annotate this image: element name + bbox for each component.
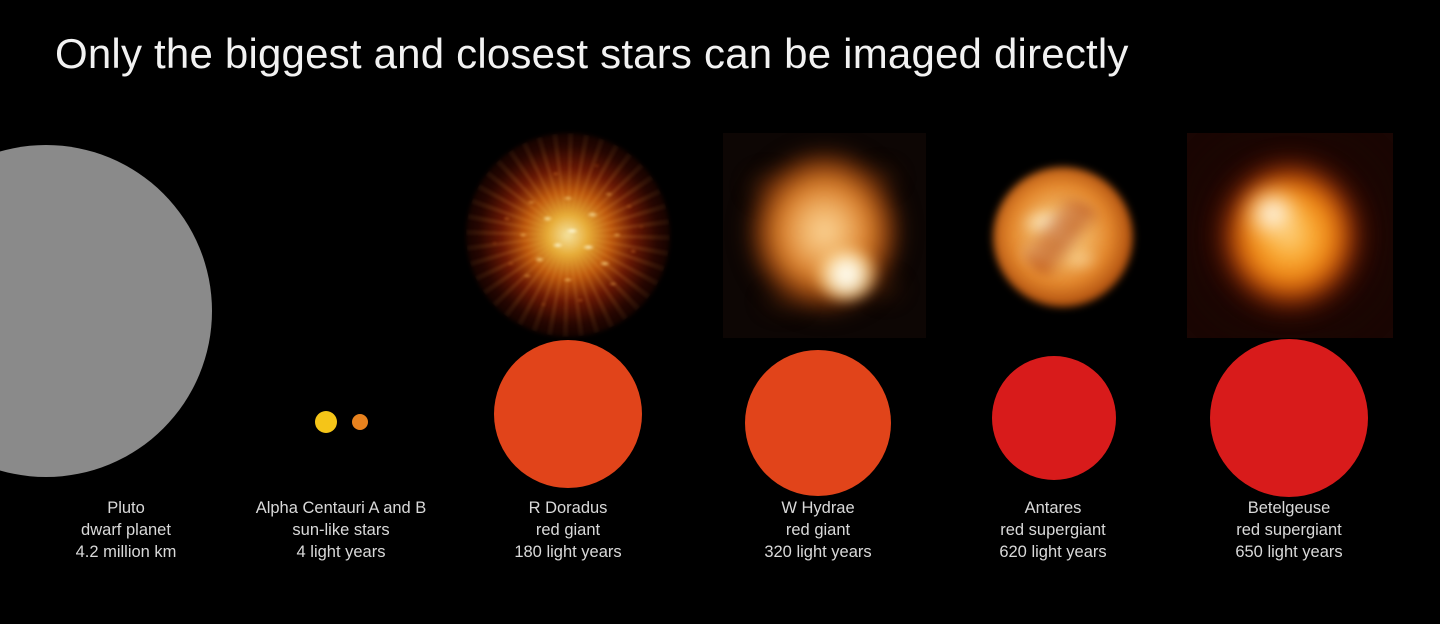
caption-name: R Doradus	[468, 497, 668, 519]
infographic-canvas: Only the biggest and closest stars can b…	[0, 0, 1440, 624]
pluto-size-disc	[0, 145, 212, 477]
betelgeuse-size-disc	[1210, 339, 1368, 497]
caption-distance: 620 light years	[953, 541, 1153, 563]
w-hydrae-telescope-image	[723, 133, 926, 338]
caption-name: W Hydrae	[718, 497, 918, 519]
r-doradus-size-disc	[494, 340, 642, 488]
caption-name: Alpha Centauri A and B	[241, 497, 441, 519]
r-doradus-telescope-image	[466, 133, 670, 337]
antares-dark-lane	[1018, 198, 1108, 279]
caption-name: Antares	[953, 497, 1153, 519]
betelgeuse-telescope-image	[1187, 133, 1393, 338]
caption-alpha-centauri: Alpha Centauri A and B sun-like stars 4 …	[241, 497, 441, 563]
caption-antares: Antares red supergiant 620 light years	[953, 497, 1153, 563]
caption-type: red supergiant	[1189, 519, 1389, 541]
alpha-centauri-a-disc	[315, 411, 337, 433]
caption-type: red giant	[468, 519, 668, 541]
caption-pluto: Pluto dwarf planet 4.2 million km	[26, 497, 226, 563]
page-title: Only the biggest and closest stars can b…	[55, 28, 1129, 80]
betelgeuse-hotspot	[1241, 186, 1303, 243]
caption-type: sun-like stars	[241, 519, 441, 541]
antares-telescope-image	[993, 167, 1133, 307]
antares-size-disc	[992, 356, 1116, 480]
caption-betelgeuse: Betelgeuse red supergiant 650 light year…	[1189, 497, 1389, 563]
caption-distance: 180 light years	[468, 541, 668, 563]
caption-r-doradus: R Doradus red giant 180 light years	[468, 497, 668, 563]
caption-distance: 320 light years	[718, 541, 918, 563]
alpha-centauri-b-disc	[352, 414, 368, 430]
caption-name: Betelgeuse	[1189, 497, 1389, 519]
w-hydrae-blob	[723, 133, 926, 338]
caption-type: red supergiant	[953, 519, 1153, 541]
caption-distance: 4.2 million km	[26, 541, 226, 563]
caption-distance: 650 light years	[1189, 541, 1389, 563]
caption-type: red giant	[718, 519, 918, 541]
caption-distance: 4 light years	[241, 541, 441, 563]
w-hydrae-size-disc	[745, 350, 891, 496]
caption-type: dwarf planet	[26, 519, 226, 541]
w-hydrae-hotspot	[816, 248, 877, 301]
r-doradus-speckle	[466, 133, 670, 337]
caption-name: Pluto	[26, 497, 226, 519]
caption-w-hydrae: W Hydrae red giant 320 light years	[718, 497, 918, 563]
